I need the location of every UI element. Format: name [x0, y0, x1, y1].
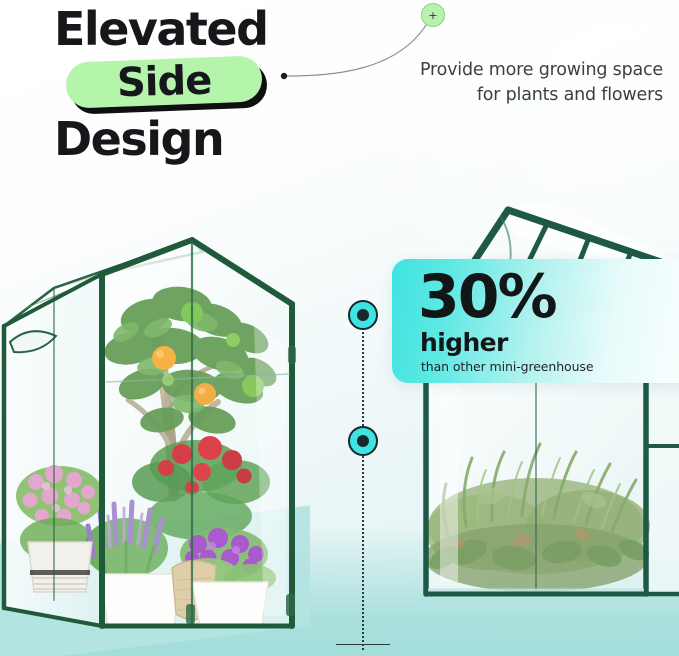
stat-badge-note: than other mini-greenhouse	[421, 359, 593, 374]
left-greenhouse-image	[0, 196, 336, 656]
height-marker-top-icon	[348, 300, 378, 330]
headline-pill-word: Side	[116, 58, 212, 107]
product-infographic: 30% higher than other mini-greenhouse El…	[0, 0, 679, 656]
feature-caption: Provide more growing space for plants an…	[343, 58, 663, 108]
feature-caption-line-2: for plants and flowers	[343, 83, 663, 108]
stat-badge-subtitle: higher	[420, 329, 508, 357]
height-marker-bottom-icon	[348, 426, 378, 456]
headline-line-3: Design	[52, 114, 352, 164]
plus-icon: +	[421, 3, 445, 27]
stat-badge-number: 30%	[418, 264, 556, 330]
stat-badge: 30% higher than other mini-greenhouse	[392, 259, 679, 383]
pill-body: Side	[65, 55, 263, 108]
ground-baseline-tick	[336, 644, 390, 645]
plus-glyph: +	[428, 10, 437, 21]
height-comparison-line	[362, 300, 364, 650]
headline-pill: Side	[66, 56, 271, 112]
dotted-line	[362, 300, 364, 650]
feature-caption-line-1: Provide more growing space	[343, 58, 663, 83]
